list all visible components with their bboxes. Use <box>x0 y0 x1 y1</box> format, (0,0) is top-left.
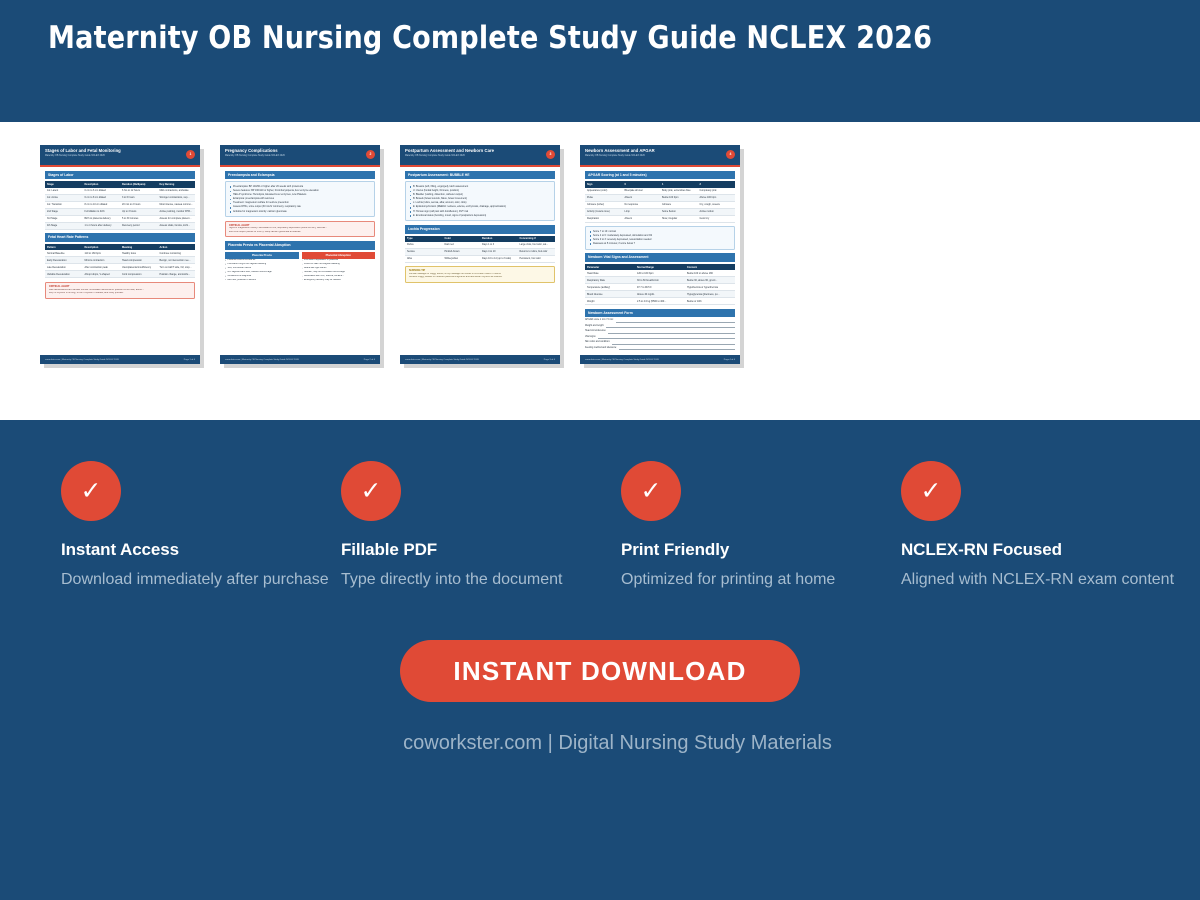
table-cell: Late Deceleration <box>45 264 83 271</box>
critical-alert-box: CRITICAL ALERTLate decelerations are NEV… <box>45 282 195 299</box>
table-cell: Head compression <box>120 257 158 264</box>
page-thumbnail[interactable]: Pregnancy ComplicationsMaternity OB Nurs… <box>220 145 380 364</box>
thumb-body: APGAR Scoring (at 1 and 5 minutes)Sign01… <box>580 167 740 353</box>
table-cell: Limp <box>623 208 661 215</box>
form-label: Weight and length: <box>585 325 604 328</box>
table-cell: Hypothermia or hyperthermia <box>685 284 735 291</box>
table-cell: Recovery period <box>120 222 158 229</box>
bullet-box: Preeclampsia: BP 140/90 or higher after … <box>225 181 375 217</box>
table-cell: Active motion <box>698 208 736 215</box>
form-row: APGAR score 1 min / 5 min: <box>585 319 735 322</box>
table-row: Grimace (reflex)No responseGrimaceCry, c… <box>585 201 735 208</box>
table-cell: 2.5 to 4.0 kg (5500 to 400... <box>635 298 685 305</box>
table-row: Activity (muscle tone)LimpSome flexionAc… <box>585 208 735 215</box>
table-cell: Some flexion <box>660 208 698 215</box>
form-input-line[interactable] <box>608 331 735 334</box>
thumb-header: Newborn Assessment and APGARMaternity OB… <box>580 145 740 165</box>
thumb-footer-left: coworkster.com | Maternity OB Nursing Co… <box>405 359 479 361</box>
table-cell: 1 to 4 hours after delivery <box>83 222 121 229</box>
table-row: 1st: Transition8 cm to 10 cm dilated20 m… <box>45 201 195 208</box>
table-cell: Birth to placenta delivery <box>83 215 121 222</box>
thumb-body: Postpartum Assessment: BUBBLE HEB: Breas… <box>400 167 560 353</box>
column-title: Placenta Previa <box>225 252 299 259</box>
thumb-footer-page: Page 2 of 4 <box>364 359 375 361</box>
thumb-footer-page: Page 4 of 4 <box>724 359 735 361</box>
table-cell: Assess for complete placent... <box>158 215 196 222</box>
data-table: PatternDescriptionMeaningActionNormal Ba… <box>45 244 195 278</box>
section-heading: Newborn Assessment Form <box>585 309 735 318</box>
thumb-subtitle: Maternity OB Nursing Complete Study Guid… <box>45 154 195 158</box>
table-cell: 6 cm to 8 cm dilated <box>83 194 121 201</box>
form-input-line[interactable] <box>606 325 735 328</box>
check-icon: ✓ <box>901 461 961 521</box>
form-label: Vital signs: <box>585 336 596 339</box>
feature-description: Download immediately after purchase <box>61 571 341 589</box>
form-input-line[interactable] <box>612 342 735 345</box>
check-icon: ✓ <box>621 461 681 521</box>
form-label: Head circumference: <box>585 330 606 333</box>
table-cell: Above 40 mg/dL <box>635 291 685 298</box>
thumb-header: Postpartum Assessment and Newborn CareMa… <box>400 145 560 165</box>
thumb-footer-left: coworkster.com | Maternity OB Nursing Co… <box>585 359 659 361</box>
table-cell: Slow, irregular <box>660 215 698 222</box>
table-cell: 5 to 30 minutes <box>120 215 158 222</box>
form-row: Skin color and condition: <box>585 341 735 344</box>
list-item: Antidote for magnesium toxicity: calcium… <box>229 210 371 214</box>
thumb-footer: coworkster.com | Maternity OB Nursing Co… <box>220 355 380 364</box>
page-number-badge: 1 <box>186 150 195 159</box>
list-item: E: Emotional status (bonding, mood, sign… <box>409 214 551 218</box>
page-thumbnail[interactable]: Postpartum Assessment and Newborn CareMa… <box>400 145 560 364</box>
table-cell: Pulse <box>585 194 623 201</box>
table-cell: Assess vitals, fundus, lochi... <box>158 222 196 229</box>
check-icon: ✓ <box>61 461 121 521</box>
section-heading: Lochia Progression <box>405 225 555 234</box>
table-row: PulseAbsentBelow 100 bpmAbove 100 bpm <box>585 194 735 201</box>
table-cell: 97.7 to 99.5 F <box>635 284 685 291</box>
thumb-footer-page: Page 3 of 4 <box>544 359 555 361</box>
table-cell: Most intense, nausea commo... <box>158 201 196 208</box>
table-cell: Respiratory Rate <box>585 277 635 284</box>
data-table: TypeColorDurationConcerning ifRubraDark … <box>405 236 555 263</box>
table-cell: Below 100 bpm <box>660 194 698 201</box>
form-input-line[interactable] <box>619 347 735 350</box>
table-cell: 3 to 6 hours <box>120 194 158 201</box>
table-cell: Stronger contractions, sup... <box>158 194 196 201</box>
table-cell: Absent <box>623 215 661 222</box>
table-cell: Variable Deceleration <box>45 271 83 278</box>
table-cell: Good cry <box>698 215 736 222</box>
table-cell: Cry, cough, sneeze <box>698 201 736 208</box>
thumb-header: Pregnancy ComplicationsMaternity OB Nurs… <box>220 145 380 165</box>
table-cell: Blood Glucose <box>585 291 635 298</box>
feature-title: NCLEX-RN Focused <box>901 540 1181 560</box>
table-row: Respiratory Rate30 to 60 breaths/minBelo… <box>585 277 735 284</box>
list-item: Reassess at 5 minutes; if score below 7 <box>589 242 731 246</box>
bullet-box: B: Breasts (soft, filling, engorged), la… <box>405 181 555 221</box>
table-row: Variable DecelerationAbrupt drops, V-sha… <box>45 271 195 278</box>
section-heading: Stages of Labor <box>45 171 195 180</box>
table-row: AlbaWhite/yellowDays 10 to 14 (up to 6 w… <box>405 255 555 262</box>
page-number-badge: 2 <box>366 150 375 159</box>
section-heading: APGAR Scoring (at 1 and 5 minutes) <box>585 171 735 180</box>
feature-title: Instant Access <box>61 540 341 560</box>
feature-item: ✓NCLEX-RN FocusedAligned with NCLEX-RN e… <box>901 420 1181 589</box>
table-cell: 20 min to 2 hours <box>120 201 158 208</box>
table-cell: Grimace (reflex) <box>585 201 623 208</box>
alert-line: and urine output (below 30 mL/hr). Keep … <box>229 231 371 234</box>
fillable-form: APGAR score 1 min / 5 min:Weight and len… <box>585 319 735 350</box>
table-cell: 30 to 60 breaths/min <box>635 277 685 284</box>
table-row: SerosaPinkish-brownDays 4 to 10Returns t… <box>405 248 555 255</box>
table-cell: Days 10 to 14 (up to 6 wks) <box>480 255 518 262</box>
page-thumbnail-list: Stages of Labor and Fetal MonitoringMate… <box>40 145 740 364</box>
form-label: Skin color and condition: <box>585 341 610 344</box>
table-row: RespirationAbsentSlow, irregularGood cry <box>585 215 735 222</box>
page-thumbnail[interactable]: Newborn Assessment and APGARMaternity OB… <box>580 145 740 364</box>
table-cell: Serosa <box>405 248 443 255</box>
section-heading: Newborn Vital Signs and Assessment <box>585 253 735 262</box>
comparison-columns: Placenta PreviaPlacenta covers cervical … <box>225 252 375 283</box>
thumb-subtitle: Maternity OB Nursing Complete Study Guid… <box>585 154 735 158</box>
feature-description: Type directly into the document <box>341 571 621 589</box>
table-row: 2nd StageFull dilation to birthUp to 3 h… <box>45 208 195 215</box>
form-input-line[interactable] <box>598 336 735 339</box>
page-thumbnail[interactable]: Stages of Labor and Fetal MonitoringMate… <box>40 145 200 364</box>
table-cell: After contraction peak <box>83 264 121 271</box>
product-landing-page: Maternity OB Nursing Complete Study Guid… <box>0 0 1200 900</box>
page-title: Maternity OB Nursing Complete Study Guid… <box>48 20 932 56</box>
table-cell: 8 cm to 10 cm dilated <box>83 201 121 208</box>
table-cell: Full dilation to birth <box>83 208 121 215</box>
table-cell: Days 4 to 10 <box>480 248 518 255</box>
table-cell: Below or 10th <box>685 298 735 305</box>
form-input-line[interactable] <box>616 320 735 323</box>
data-table: ParameterNormal RangeConcernHeart Rate12… <box>585 264 735 305</box>
table-row: 3rd StageBirth to placenta delivery5 to … <box>45 215 195 222</box>
table-row: Late DecelerationAfter contraction peakU… <box>45 264 195 271</box>
bullet-box: Score 7 to 10: normalScore 4 to 6: moder… <box>585 226 735 249</box>
feature-list: ✓Instant AccessDownload immediately afte… <box>0 420 1200 600</box>
table-row: Blood GlucoseAbove 40 mg/dLHypoglycemia … <box>585 291 735 298</box>
table-row: Weight2.5 to 4.0 kg (5500 to 400...Below… <box>585 298 735 305</box>
feature-item: ✓Print FriendlyOptimized for printing at… <box>621 420 901 589</box>
list-item: Bed rest, possible C-section <box>225 279 299 283</box>
thumb-footer-left: coworkster.com | Maternity OB Nursing Co… <box>45 359 119 361</box>
tip-line: remains boggy, assess for retained place… <box>409 276 551 279</box>
table-row: 4th Stage1 to 4 hours after deliveryReco… <box>45 222 195 229</box>
table-row: Temperature (axillary)97.7 to 99.5 FHypo… <box>585 284 735 291</box>
form-row: Feeding method and tolerance: <box>585 347 735 350</box>
table-cell: Respiration <box>585 215 623 222</box>
page-number-badge: 3 <box>546 150 555 159</box>
thumb-footer: coworkster.com | Maternity OB Nursing Co… <box>580 355 740 364</box>
table-cell: Position change, amnioinfu... <box>158 271 196 278</box>
table-cell: 3rd Stage <box>45 215 83 222</box>
site-footer-note: coworkster.com | Digital Nursing Study M… <box>0 732 1200 755</box>
feature-description: Aligned with NCLEX-RN exam content <box>901 571 1181 589</box>
data-table: Sign012Appearance (color)Blue/pale all o… <box>585 181 735 222</box>
table-cell: Up to 3 hours <box>120 208 158 215</box>
column-title: Placental Abruption <box>302 252 376 259</box>
thumb-body: Stages of LaborStageDescriptionDuration … <box>40 167 200 353</box>
table-cell: Alba <box>405 255 443 262</box>
check-icon: ✓ <box>341 461 401 521</box>
table-cell: Returns to rubra, foul odor <box>518 248 556 255</box>
feature-title: Print Friendly <box>621 540 901 560</box>
table-cell: Persistent, foul odor <box>518 255 556 262</box>
form-row: Vital signs: <box>585 336 735 339</box>
section-heading: Postpartum Assessment: BUBBLE HE <box>405 171 555 180</box>
section-heading: Placenta Previa vs Placental Abruption <box>225 241 375 250</box>
table-cell: 4th Stage <box>45 222 83 229</box>
thumb-body: Preeclampsia and EclampsiaPreeclampsia: … <box>220 167 380 353</box>
form-label: Feeding method and tolerance: <box>585 347 617 350</box>
instant-download-button[interactable]: INSTANT DOWNLOAD <box>400 640 800 702</box>
thumb-subtitle: Maternity OB Nursing Complete Study Guid… <box>405 154 555 158</box>
table-cell: Below 30, above 60, grunti... <box>685 277 735 284</box>
table-cell: 2nd Stage <box>45 208 83 215</box>
table-cell: No response <box>623 201 661 208</box>
table-row: 1st: Active6 cm to 8 cm dilated3 to 6 ho… <box>45 194 195 201</box>
feature-item: ✓Instant AccessDownload immediately afte… <box>61 420 341 589</box>
table-cell: Above 100 bpm <box>698 194 736 201</box>
thumb-header: Stages of Labor and Fetal MonitoringMate… <box>40 145 200 165</box>
thumb-footer-page: Page 1 of 4 <box>184 359 195 361</box>
table-cell: Activity (muscle tone) <box>585 208 623 215</box>
form-label: APGAR score 1 min / 5 min: <box>585 319 614 322</box>
table-cell: Temperature (axillary) <box>585 284 635 291</box>
table-cell: Mirrors contraction <box>83 257 121 264</box>
nursing-tip-box: NURSING TIPFundal massage for boggy uter… <box>405 266 555 283</box>
data-table: StageDescriptionDuration (Nullipara)Key … <box>45 181 195 229</box>
table-cell: Cord compression <box>120 271 158 278</box>
form-row: Weight and length: <box>585 325 735 328</box>
table-cell: Active pushing, monitor FHR... <box>158 208 196 215</box>
alert-line: stop IV oxytocin if running, START oxyto… <box>49 292 191 295</box>
table-cell: Weight <box>585 298 635 305</box>
table-cell: Early Deceleration <box>45 257 83 264</box>
comparison-column-right: Placental AbruptionPremature separation … <box>302 252 376 283</box>
critical-alert-box: CRITICAL ALERTSigns of magnesium toxicit… <box>225 221 375 238</box>
thumb-footer: coworkster.com | Maternity OB Nursing Co… <box>40 355 200 364</box>
table-cell: Hypoglycemia (jitteriness, po... <box>685 291 735 298</box>
table-cell: 1st: Transition <box>45 201 83 208</box>
comparison-column-left: Placenta PreviaPlacenta covers cervical … <box>225 252 299 283</box>
section-heading: Preeclampsia and Eclampsia <box>225 171 375 180</box>
thumb-subtitle: Maternity OB Nursing Complete Study Guid… <box>225 154 375 158</box>
feature-title: Fillable PDF <box>341 540 621 560</box>
table-cell: Benign, no intervention nee... <box>158 257 196 264</box>
thumb-footer: coworkster.com | Maternity OB Nursing Co… <box>400 355 560 364</box>
table-cell: Pinkish-brown <box>443 248 481 255</box>
table-cell: 1st: Active <box>45 194 83 201</box>
list-item: Emergency delivery may be needed <box>302 279 376 283</box>
page-header: Maternity OB Nursing Complete Study Guid… <box>0 0 1200 122</box>
table-cell: Abrupt drops, V-shaped <box>83 271 121 278</box>
form-row: Head circumference: <box>585 330 735 333</box>
feature-description: Optimized for printing at home <box>621 571 901 589</box>
feature-item: ✓Fillable PDFType directly into the docu… <box>341 420 621 589</box>
table-cell: White/yellow <box>443 255 481 262</box>
table-cell: Grimace <box>660 201 698 208</box>
table-cell: Uteroplacental insufficiency <box>120 264 158 271</box>
table-cell: Turn on LEFT side, O2, stop... <box>158 264 196 271</box>
table-row: Early DecelerationMirrors contractionHea… <box>45 257 195 264</box>
table-cell: Absent <box>623 194 661 201</box>
document-preview-strip: Stages of Labor and Fetal MonitoringMate… <box>0 122 1200 420</box>
section-heading: Fetal Heart Rate Patterns <box>45 233 195 242</box>
page-number-badge: 4 <box>726 150 735 159</box>
thumb-footer-left: coworkster.com | Maternity OB Nursing Co… <box>225 359 299 361</box>
